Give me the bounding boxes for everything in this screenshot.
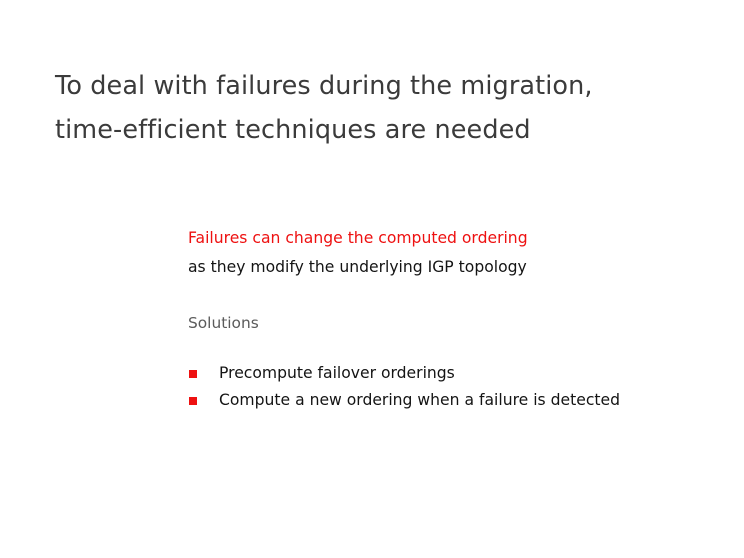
statement-block: Failures can change the computed orderin… bbox=[188, 208, 708, 297]
solutions-section: Solutions Precompute failover orderings … bbox=[188, 313, 708, 333]
statement-paragraph: Failures can change the computed orderin… bbox=[188, 224, 708, 282]
presentation-slide: To deal with failures during the migrati… bbox=[0, 0, 744, 558]
emphasis-statement: Failures can change the computed orderin… bbox=[188, 224, 708, 253]
solutions-label: Solutions bbox=[188, 313, 708, 333]
list-item-label: Compute a new ordering when a failure is… bbox=[219, 391, 620, 409]
slide-title-line-2: time-efficient techniques are needed bbox=[55, 108, 695, 152]
list-item: Precompute failover orderings bbox=[188, 360, 708, 387]
list-item: Compute a new ordering when a failure is… bbox=[188, 387, 708, 414]
red-square-bullet-icon bbox=[189, 397, 197, 405]
list-item-label: Precompute failover orderings bbox=[219, 364, 455, 382]
slide-title-line-1: To deal with failures during the migrati… bbox=[55, 64, 695, 108]
slide-title: To deal with failures during the migrati… bbox=[55, 64, 695, 152]
detail-statement: as they modify the underlying IGP topolo… bbox=[188, 253, 708, 282]
red-square-bullet-icon bbox=[189, 370, 197, 378]
solutions-bullet-list: Precompute failover orderings Compute a … bbox=[188, 360, 708, 414]
